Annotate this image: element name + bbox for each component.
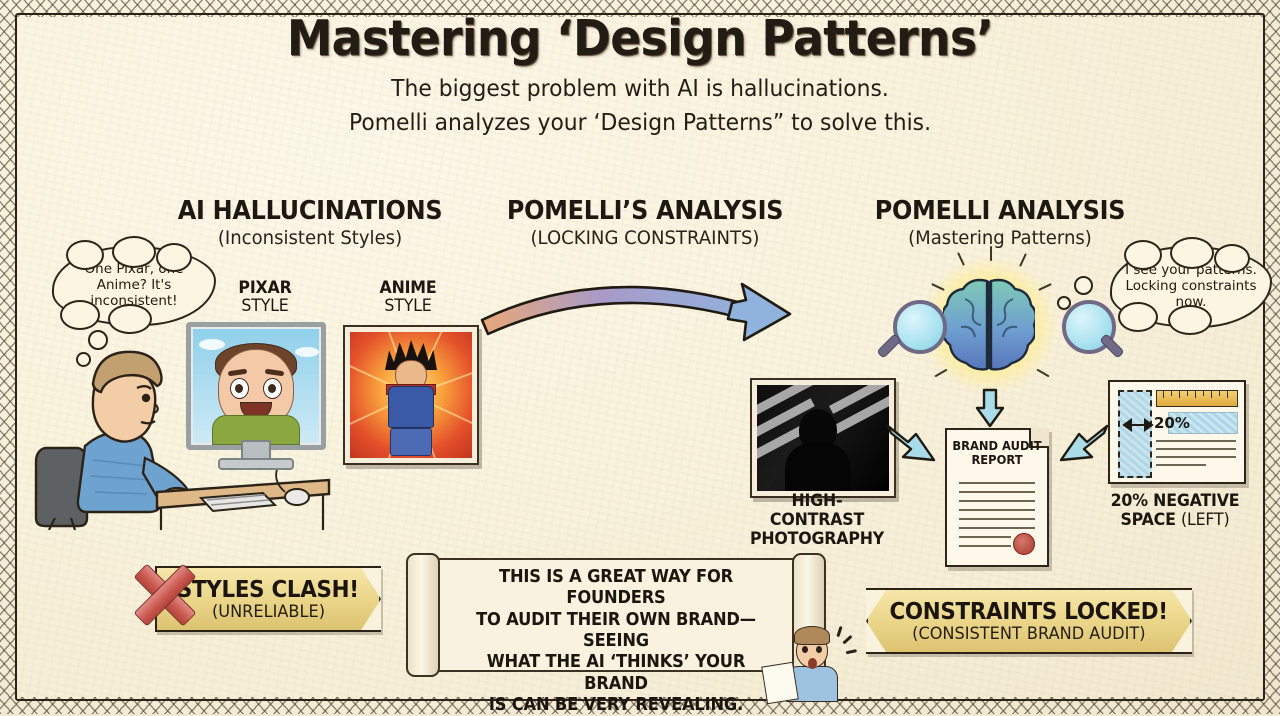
column-heading-analysis: POMELLI’S ANALYSIS (LOCKING CONSTRAINTS) [490,196,800,249]
reader-paper [761,662,799,705]
caption-line-2: PHOTOGRAPHY [747,530,887,549]
pixar-style-monitor [186,322,326,440]
report-title-line-2: REPORT [951,453,1043,467]
high-contrast-photo-card [750,378,896,498]
report-text-line [959,509,1035,511]
photo-to-report-arrow [884,420,940,472]
surprise-mark [842,635,852,644]
negative-space-panel: 20% [1108,380,1246,484]
column-subheading-text: (Mastering Patterns) [853,227,1148,249]
magnifier-right-icon [1062,300,1108,346]
infographic-canvas: Mastering ‘Design Patterns’ The biggest … [0,0,1280,714]
column-heading-hallucinations: AI HALLUCINATIONS (Inconsistent Styles) [150,196,470,249]
style-label-anime: ANIME STYLE [352,280,464,316]
scroll-line-3: WHAT THE AI ‘THINKS’ YOUR BRAND [460,652,772,695]
bubble-lobe [156,243,192,272]
caption-line-1: HIGH-CONTRAST [747,492,887,530]
report-text-line [959,536,1011,538]
bubble-lobe [1124,240,1162,270]
content-line [1156,456,1236,458]
magnifier-left-icon [893,300,939,346]
scroll-line-4: IS CAN BE VERY REVEALING. [460,695,772,716]
anime-style-card [343,325,479,465]
brain-icon [943,275,1035,375]
ruler-tick [1179,391,1180,398]
bubble-lobe [1168,305,1212,335]
ribbon-constraints-locked: CONSTRAINTS LOCKED! (CONSISTENT BRAND AU… [866,588,1192,654]
style-label-light: STYLE [352,298,464,316]
ruler-tick [1219,391,1220,396]
surprise-mark [846,649,857,654]
column-heading-text: POMELLI’S ANALYSIS [502,196,787,226]
subtitle-line-2: Pomelli analyzes your ‘Design Patterns” … [32,110,1248,136]
anime-character-legs [390,428,432,456]
negative-space-region [1118,390,1152,478]
magnifier-lens [893,300,947,354]
bubble-lobe [1170,237,1214,269]
report-text-line [959,500,1035,502]
ruler-tick [1171,391,1172,396]
bubble-lobe [108,304,152,334]
report-text-line [959,518,1035,520]
report-text-line [959,527,1035,529]
ruler-tick [1211,391,1212,398]
thought-dot [1074,276,1093,295]
ruler-icon [1156,390,1238,407]
ribbon-subline: (UNRELIABLE) [211,602,324,622]
ribbon-notch-right [361,568,381,630]
column-heading-text: POMELLI ANALYSIS [857,196,1142,226]
report-title-line-1: BRAND AUDIT [951,439,1043,453]
content-line [1156,448,1236,450]
brain-to-report-arrow [974,388,1006,428]
scroll-line-2: TO AUDIT THEIR OWN BRAND—SEEING [460,610,772,653]
column-subheading-text: (Inconsistent Styles) [158,227,462,249]
ribbon-notch-right [1172,590,1192,652]
ruler-tick [1227,391,1228,398]
ruler-tick [1203,391,1204,396]
reader-eye-left [802,646,808,653]
column-heading-mastering: POMELLI ANALYSIS (Mastering Patterns) [845,196,1155,249]
subtitle-line-1: The biggest problem with AI is hallucina… [32,76,1248,102]
ribbon-notch-left [866,590,886,652]
report-text-line [959,482,1035,484]
scroll-text: THIS IS A GREAT WAY FOR FOUNDERS TO AUDI… [460,567,772,716]
bubble-lobe [60,300,100,330]
column-heading-text: AI HALLUCINATIONS [163,196,457,226]
scroll-banner: THIS IS A GREAT WAY FOR FOUNDERS TO AUDI… [412,558,820,672]
bubble-lobe [1214,244,1250,273]
pixar-brow-left [228,369,248,377]
cloud-shape [295,347,319,357]
reader-hair [794,626,830,645]
transition-arrow [470,268,850,368]
photo-inner [757,385,889,491]
negative-space-to-report-arrow [1055,420,1111,472]
caption-negative-space: 20% NEGATIVE SPACE (LEFT) [1105,492,1245,530]
reader-mouth [808,658,817,669]
anime-card-inner [350,332,472,458]
report-text-line [959,545,1011,547]
reader-eye-right [816,646,822,653]
pixar-eye-left [230,378,249,399]
ruler-tick [1187,391,1188,396]
scroll-line-1: THIS IS A GREAT WAY FOR FOUNDERS [460,567,772,610]
negative-space-value: 20% [1154,414,1190,432]
anime-character-body [388,386,434,428]
content-line [1156,464,1206,466]
glow-spark [990,246,992,261]
x-mark-icon [122,552,208,638]
style-label-light: STYLE [209,298,321,316]
bubble-lobe [66,240,104,270]
brand-audit-report-document: BRAND AUDIT REPORT [945,428,1049,567]
measure-double-arrow-icon [1122,418,1154,432]
monitor-base [218,458,294,470]
caption-high-contrast-photography: HIGH-CONTRAST PHOTOGRAPHY [747,492,887,549]
column-subheading-text: (LOCKING CONSTRAINTS) [498,227,793,249]
reader-person-illustration [768,608,864,708]
page-title: Mastering ‘Design Patterns’ [45,10,1235,67]
cloud-shape [199,339,225,350]
ribbon-subline: (CONSISTENT BRAND AUDIT) [912,624,1145,644]
report-text-line [959,491,1035,493]
ruler-tick [1163,391,1164,398]
style-label-pixar: PIXAR STYLE [209,280,321,316]
ruler-tick [1195,391,1196,398]
ribbon-headline: CONSTRAINTS LOCKED! [890,599,1168,625]
photo-image [757,385,889,491]
caption-bold: SPACE [1120,510,1175,530]
photo-silhouette-body [785,443,851,491]
caption-light: (LEFT) [1181,510,1230,530]
monitor-screen [186,322,326,450]
report-seal [1013,533,1035,555]
report-title: BRAND AUDIT REPORT [951,439,1043,468]
scroll-roll-left [406,553,440,677]
bubble-lobe [112,236,156,268]
content-line [1156,440,1236,442]
caption-line-1: 20% NEGATIVE [1105,492,1245,511]
bubble-lobe [1118,302,1158,332]
caption-line-2: SPACE (LEFT) [1105,511,1245,530]
pixar-eye-right [263,378,282,399]
surprise-mark [836,626,842,637]
pixar-brow-right [265,369,285,377]
